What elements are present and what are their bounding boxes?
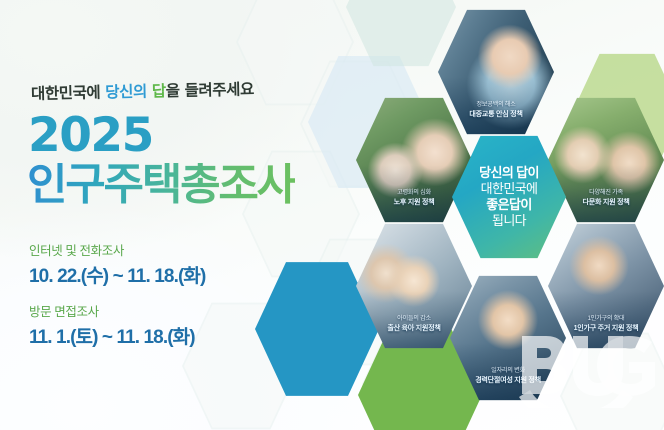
caption-bottom: 경력단절여성 지원 정책 <box>456 376 560 384</box>
caption-top: 다양해진 가족 <box>554 189 658 196</box>
schedule-value: 10. 22.(수) ~ 11. 18.(화) <box>29 261 205 288</box>
schedule-label: 인터넷 및 전화조사 <box>29 240 205 259</box>
poster-year: 2025 <box>28 112 153 159</box>
tagline-part-2: 당신의 <box>105 82 152 101</box>
center-message-hexagon: 당신의 답이 대한민국에 좋은답이 됩니다 <box>452 134 566 260</box>
caption-bottom: 노후 지원 정책 <box>362 198 466 206</box>
page-title: 인구주택총조사 <box>27 163 295 207</box>
caption-bottom: 다문화 지원 정책 <box>554 198 658 206</box>
schedule-value: 11. 1.(토) ~ 11. 18.(화) <box>29 322 205 349</box>
message-line-2: 대한민국에 <box>481 181 538 197</box>
caption-bottom: 대중교통 안심 정책 <box>444 110 548 118</box>
caption-top: 정보공백의 해소 <box>444 101 548 108</box>
message-line-4: 됩니다 <box>492 213 526 229</box>
caption-top: 일자리의 변화 <box>456 367 560 374</box>
tagline-part-1: 대한민국에 <box>31 83 106 103</box>
photo-hexagon-public-transport[interactable]: 정보공백의 해소 대중교통 안심 정책 <box>438 8 554 136</box>
schedule-item: 인터넷 및 전화조사 10. 22.(수) ~ 11. 18.(화) <box>29 240 205 288</box>
tagline-part-4: 을 들려주세요 <box>166 80 255 100</box>
caption-bottom: 출산 육아 지원정책 <box>362 324 466 332</box>
schedule-label: 방문 면접조사 <box>29 301 205 320</box>
schedule-item: 방문 면접조사 11. 1.(토) ~ 11. 18.(화) <box>29 301 205 349</box>
poster-tagline: 대한민국에 당신의 답을 들려주세요 <box>31 77 254 104</box>
caption-top: 아이들의 감소 <box>362 315 466 322</box>
caption-top: 1인가구의 확대 <box>554 315 658 322</box>
photo-caption: 1인가구의 확대 1인가구 주거 지원 정책 <box>548 315 664 332</box>
census-poster: 정보공백의 해소 대중교통 안심 정책 고령화의 심화 노후 지원 정책 다양해… <box>0 0 664 430</box>
photo-hexagon-single-household-housing[interactable]: 1인가구의 확대 1인가구 주거 지원 정책 <box>548 222 664 350</box>
photo-caption: 정보공백의 해소 대중교통 안심 정책 <box>438 101 554 118</box>
tagline-part-3: 답 <box>152 82 166 100</box>
message-line-1: 당신의 답이 <box>479 165 539 181</box>
caption-top: 고령화의 심화 <box>362 189 466 196</box>
message-line-3: 좋은답이 <box>486 197 531 213</box>
survey-schedule: 인터넷 및 전화조사 10. 22.(수) ~ 11. 18.(화) 방문 면접… <box>29 240 205 362</box>
caption-bottom: 1인가구 주거 지원 정책 <box>554 324 658 332</box>
